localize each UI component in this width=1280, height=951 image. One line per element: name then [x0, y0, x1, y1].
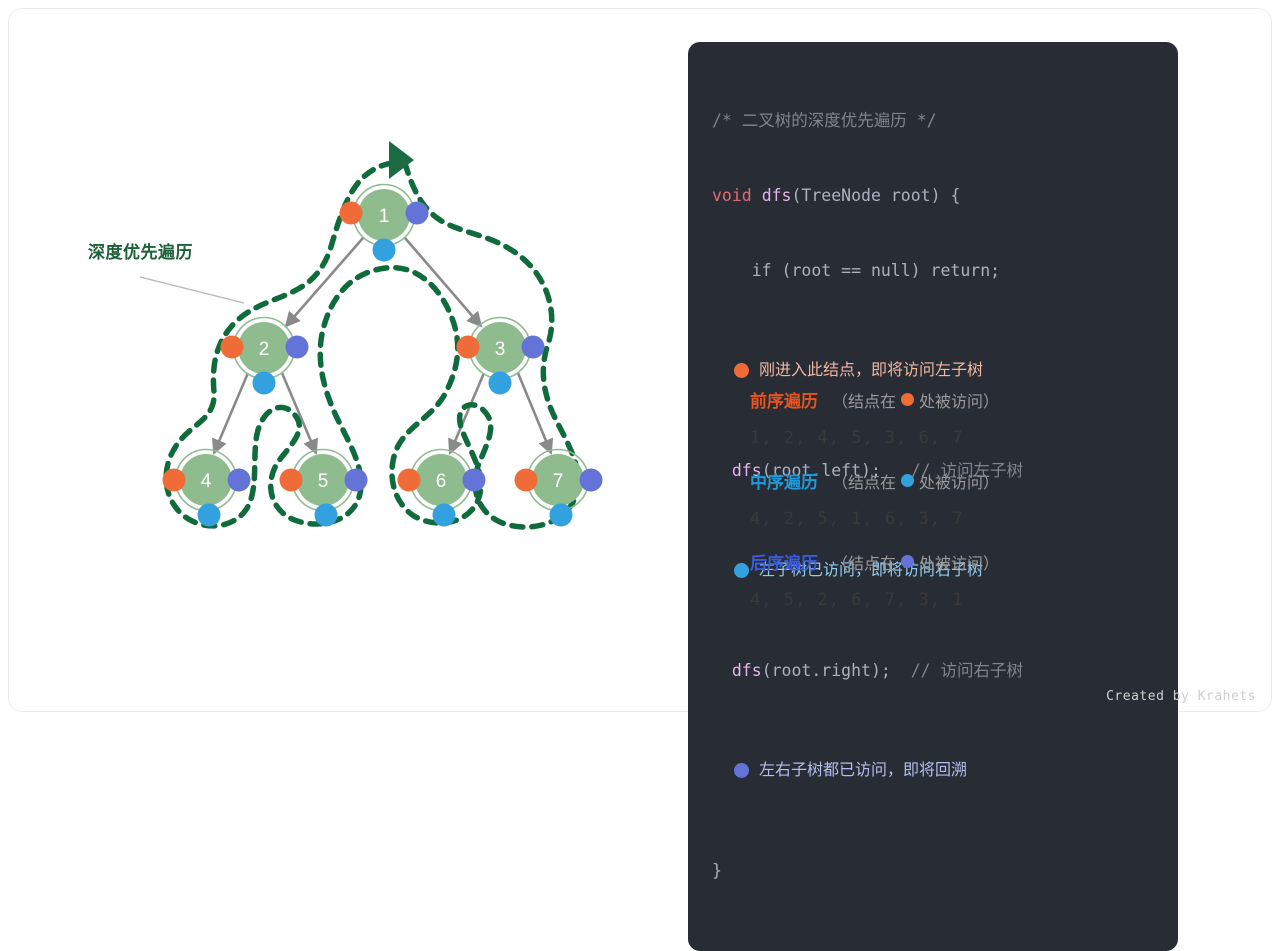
- traversal-sequence-inorder: 4, 2, 5, 1, 6, 3, 7: [750, 496, 1170, 542]
- tree-nodes: 1 2 3: [163, 185, 603, 527]
- code-gap-right: [891, 661, 911, 680]
- preorder-dot-icon: [734, 363, 749, 378]
- tree-node-7[interactable]: 7: [515, 450, 603, 527]
- traversal-results: 前序遍历 （结点在 处被访问） 1, 2, 4, 5, 3, 6, 7 中序遍历…: [750, 384, 1170, 627]
- traversal-note-prefix: （结点在: [832, 388, 896, 412]
- binary-tree-diagram: 1 2 3: [0, 0, 680, 720]
- traversal-name-preorder: 前序遍历: [750, 387, 818, 412]
- preorder-marker-dot: [457, 336, 480, 359]
- node-value: 1: [379, 206, 390, 227]
- traversal-note-postorder: （结点在 处被访问）: [832, 550, 999, 574]
- code-marker-postorder: 左右子树都已访问，即将回溯: [712, 758, 1154, 783]
- code-args-right: (root.right);: [762, 661, 891, 680]
- node-value: 6: [436, 471, 447, 492]
- preorder-marker-dot: [515, 469, 538, 492]
- code-signature-rest: (TreeNode root) {: [792, 186, 961, 205]
- code-call-right: dfs(root.right); // 访问右子树: [712, 658, 1154, 683]
- inorder-dot-icon: [734, 563, 749, 578]
- traversal-note-suffix: 处被访问）: [919, 550, 999, 574]
- code-keyword-void: void: [712, 186, 752, 205]
- traversal-head-preorder: 前序遍历 （结点在 处被访问）: [750, 384, 1170, 415]
- tree-node-5[interactable]: 5: [280, 450, 368, 527]
- preorder-dot-icon: [901, 393, 914, 406]
- traversal-head-postorder: 后序遍历 （结点在 处被访问）: [750, 546, 1170, 577]
- code-signature: void dfs(TreeNode root) {: [712, 183, 1154, 208]
- traversal-group-inorder: 中序遍历 （结点在 处被访问） 4, 2, 5, 1, 6, 3, 7: [750, 465, 1170, 542]
- edge-1-3: [405, 238, 481, 326]
- inorder-marker-dot: [489, 372, 512, 395]
- inorder-marker-dot: [198, 504, 221, 527]
- edge-2-4: [214, 373, 248, 453]
- dfs-annotation-label: 深度优先遍历: [88, 238, 193, 263]
- code-comment-right: // 访问右子树: [911, 661, 1023, 680]
- postorder-dot-icon: [734, 763, 749, 778]
- traversal-note-prefix: （结点在: [832, 469, 896, 493]
- preorder-marker-dot: [340, 202, 363, 225]
- preorder-marker-dot: [221, 336, 244, 359]
- traversal-note-suffix: 处被访问）: [919, 388, 999, 412]
- postorder-marker-dot: [286, 336, 309, 359]
- code-indent-right: [712, 661, 732, 680]
- preorder-marker-dot: [280, 469, 303, 492]
- node-value: 3: [495, 339, 506, 360]
- traversal-sequence-postorder: 4, 5, 2, 6, 7, 3, 1: [750, 577, 1170, 623]
- code-func-dfs-right: dfs: [732, 661, 762, 680]
- inorder-dot-icon: [901, 474, 914, 487]
- code-indent-left: [712, 461, 732, 480]
- postorder-dot-icon: [901, 555, 914, 568]
- watermark: Created by Krahets: [1106, 689, 1256, 704]
- traversal-note-prefix: （结点在: [832, 550, 896, 574]
- tree-node-4[interactable]: 4: [163, 450, 251, 527]
- tree-node-3[interactable]: 3: [457, 318, 545, 395]
- tree-node-2[interactable]: 2: [221, 318, 309, 395]
- postorder-marker-dot: [228, 469, 251, 492]
- figure-canvas: 1 2 3: [0, 0, 1280, 720]
- traversal-head-inorder: 中序遍历 （结点在 处被访问）: [750, 465, 1170, 496]
- node-value: 7: [553, 471, 564, 492]
- traversal-sequence-preorder: 1, 2, 4, 5, 3, 6, 7: [750, 415, 1170, 461]
- traversal-group-postorder: 后序遍历 （结点在 处被访问） 4, 5, 2, 6, 7, 3, 1: [750, 546, 1170, 623]
- traversal-group-preorder: 前序遍历 （结点在 处被访问） 1, 2, 4, 5, 3, 6, 7: [750, 384, 1170, 461]
- code-func-dfs: dfs: [762, 186, 792, 205]
- node-value: 2: [259, 339, 270, 360]
- code-marker-postorder-text: 左右子树都已访问，即将回溯: [759, 758, 967, 783]
- code-marker-preorder-text: 刚进入此结点，即将访问左子树: [759, 358, 983, 383]
- play-triangle-icon: [389, 141, 414, 179]
- code-space-1: [752, 186, 762, 205]
- traversal-name-postorder: 后序遍历: [750, 549, 818, 574]
- traversal-note-preorder: （结点在 处被访问）: [832, 388, 999, 412]
- code-comment-header: /* 二叉树的深度优先遍历 */: [712, 108, 1154, 133]
- inorder-marker-dot: [433, 504, 456, 527]
- traversal-name-inorder: 中序遍历: [750, 468, 818, 493]
- postorder-marker-dot: [406, 202, 429, 225]
- inorder-marker-dot: [373, 239, 396, 262]
- code-closing-brace: }: [712, 858, 1154, 883]
- postorder-marker-dot: [345, 469, 368, 492]
- inorder-marker-dot: [550, 504, 573, 527]
- preorder-marker-dot: [163, 469, 186, 492]
- traversal-note-inorder: （结点在 处被访问）: [832, 469, 999, 493]
- postorder-marker-dot: [522, 336, 545, 359]
- postorder-marker-dot: [580, 469, 603, 492]
- code-marker-preorder: 刚进入此结点，即将访问左子树: [712, 358, 1154, 383]
- inorder-marker-dot: [253, 372, 276, 395]
- annotation-leader-line: [140, 277, 244, 303]
- edge-2-5: [282, 373, 316, 453]
- node-value: 5: [318, 471, 329, 492]
- inorder-marker-dot: [315, 504, 338, 527]
- code-null-check: if (root == null) return;: [712, 258, 1154, 283]
- postorder-marker-dot: [463, 469, 486, 492]
- preorder-marker-dot: [398, 469, 421, 492]
- node-value: 4: [201, 471, 212, 492]
- start-marker: [389, 141, 414, 179]
- traversal-note-suffix: 处被访问）: [919, 469, 999, 493]
